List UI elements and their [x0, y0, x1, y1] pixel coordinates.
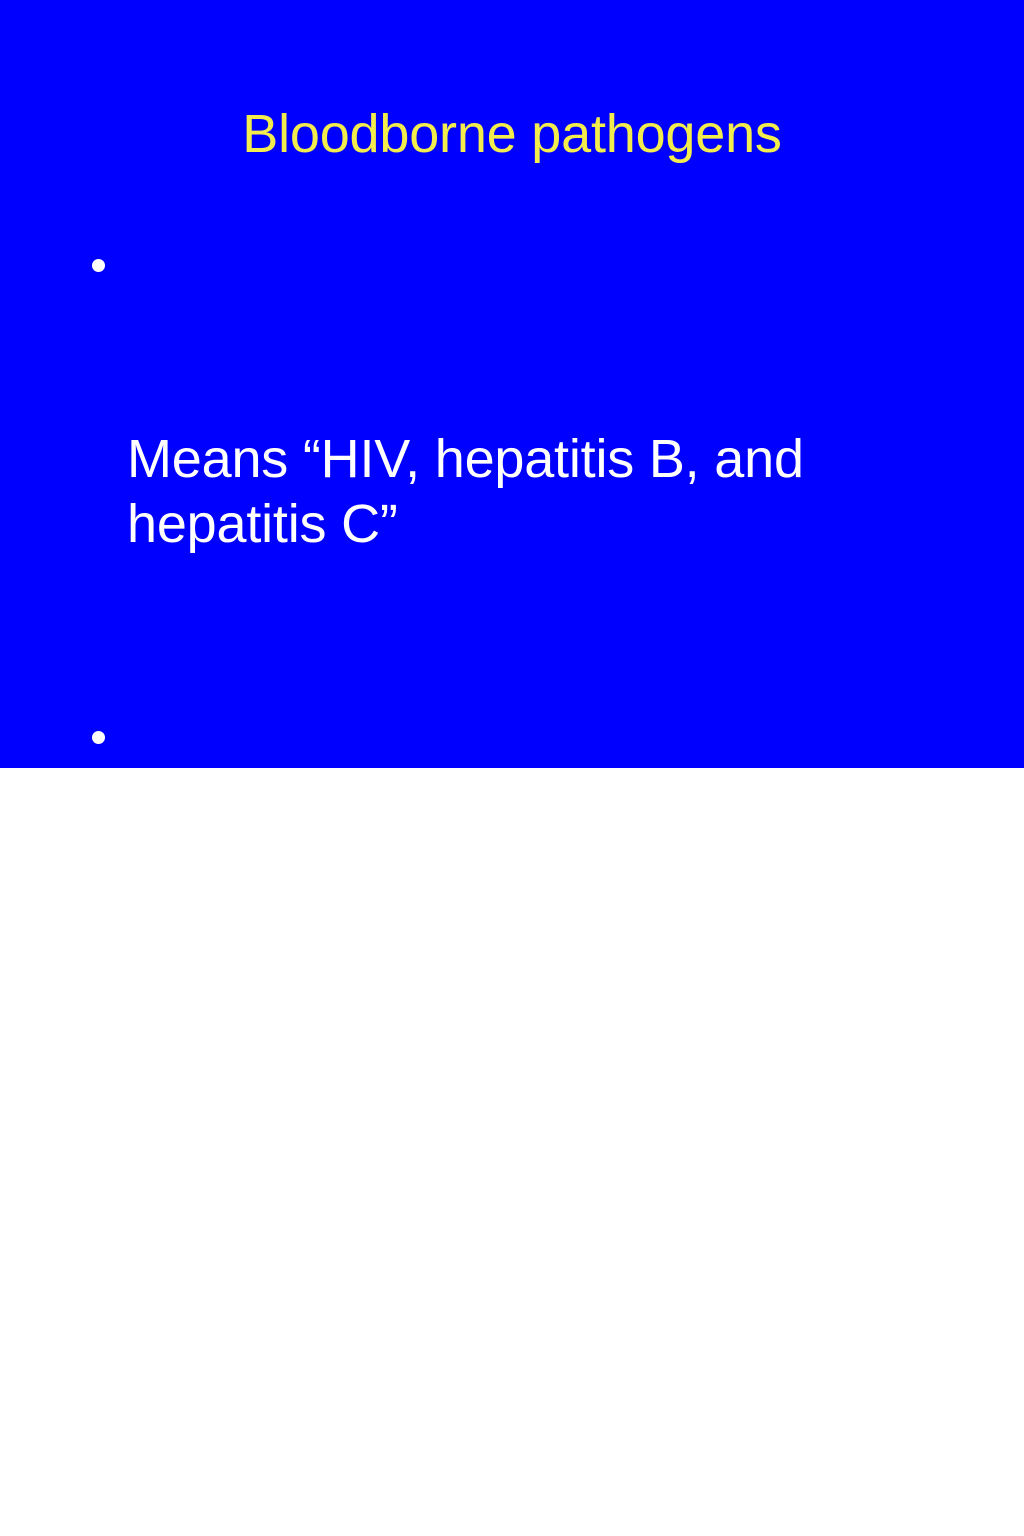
bullet-dot-icon — [92, 731, 105, 744]
bullet-item-label: Means “HIV, hepatitis B, and hepatitis C… — [127, 427, 888, 557]
bullet-list: Means “HIV, hepatitis B, and hepatitis C… — [88, 232, 888, 1536]
bullet-item-1: Means “HIV, hepatitis B, and hepatitis C… — [88, 232, 888, 687]
bullet-dot-icon — [92, 259, 105, 272]
bullet-dot-icon — [92, 1138, 105, 1151]
slide-title: Bloodborne pathogens — [0, 103, 1024, 165]
bullet-item-3: Tobacco, car crashes: More — [88, 1111, 888, 1501]
bullet-item-label: Occupational HIV: Dozens — [127, 899, 888, 964]
bullet-item-4: “Special treatment” — [88, 1518, 888, 1536]
bullet-item-label: Tobacco, car crashes: More — [127, 1306, 888, 1371]
bullet-item-2: Occupational HIV: Dozens — [88, 704, 888, 1094]
presentation-slide: Bloodborne pathogens Means “HIV, hepatit… — [0, 0, 1024, 768]
